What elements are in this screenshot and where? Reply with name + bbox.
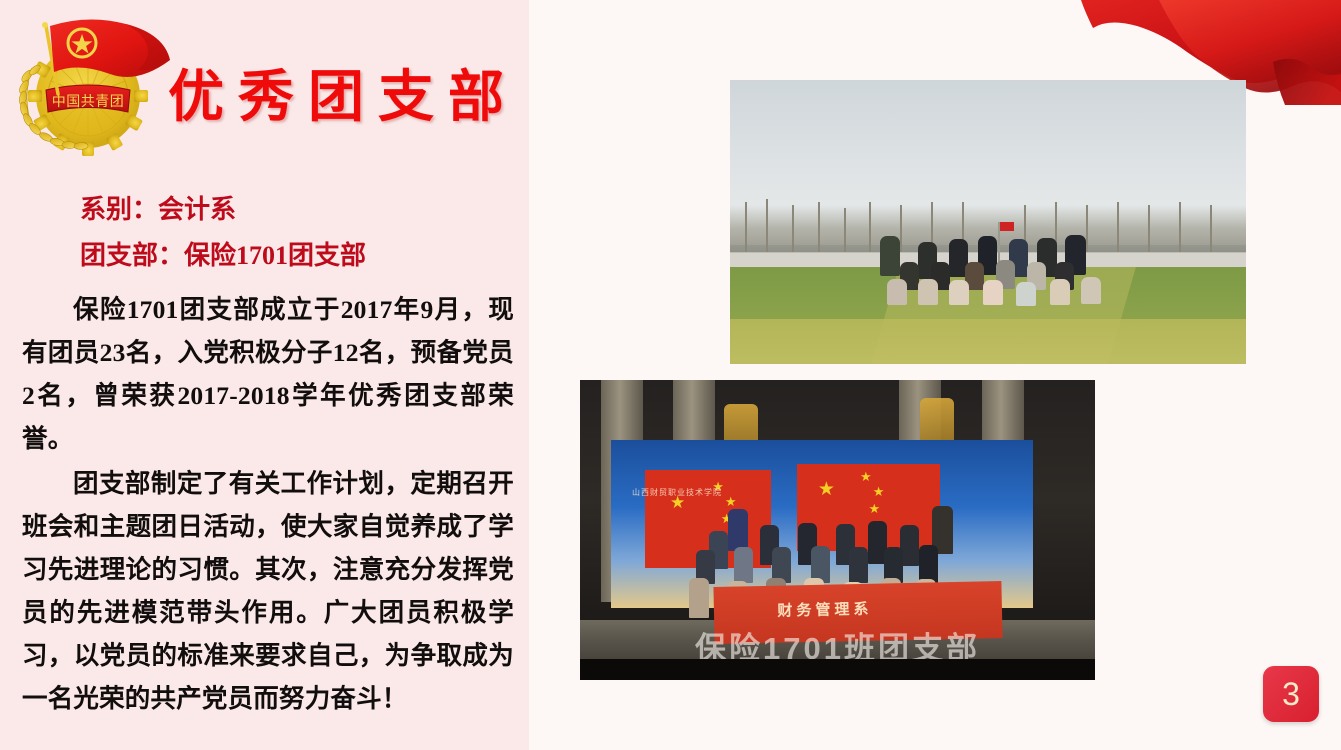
youth-league-emblem-icon: 中国共青团 (18, 12, 178, 172)
body-text-block: 保险1701团支部成立于2017年9月，现有团员23名，入党积极分子12名，预备… (22, 288, 514, 722)
page-number-badge[interactable]: 3 (1263, 666, 1319, 722)
heading-department: 系别：会计系 (80, 194, 236, 225)
photo-school-mark: 山西财贸职业技术学院 (632, 487, 722, 498)
emblem-banner-text: 中国共青团 (52, 94, 125, 110)
page-title: 优秀团支部 (168, 70, 518, 126)
body-paragraph-1: 保险1701团支部成立于2017年9月，现有团员23名，入党积极分子12名，预备… (22, 288, 514, 460)
photo-banner-group: ★ ★ ★ ★ ★ ★ ★ ★ 山西财贸职业技术学院 (580, 380, 1095, 680)
photo-banner-text: 财务管理系 (777, 597, 872, 620)
slide-canvas: 中国共青团 优秀团支部 系别：会计系 团支部：保险1701团支部 保险1701团… (0, 0, 1341, 750)
photo-field-group (730, 80, 1246, 364)
body-paragraph-2: 团支部制定了有关工作计划，定期召开班会和主题团日活动，使大家自觉养成了学习先进理… (22, 462, 514, 720)
heading-branch: 团支部：保险1701团支部 (80, 240, 366, 271)
